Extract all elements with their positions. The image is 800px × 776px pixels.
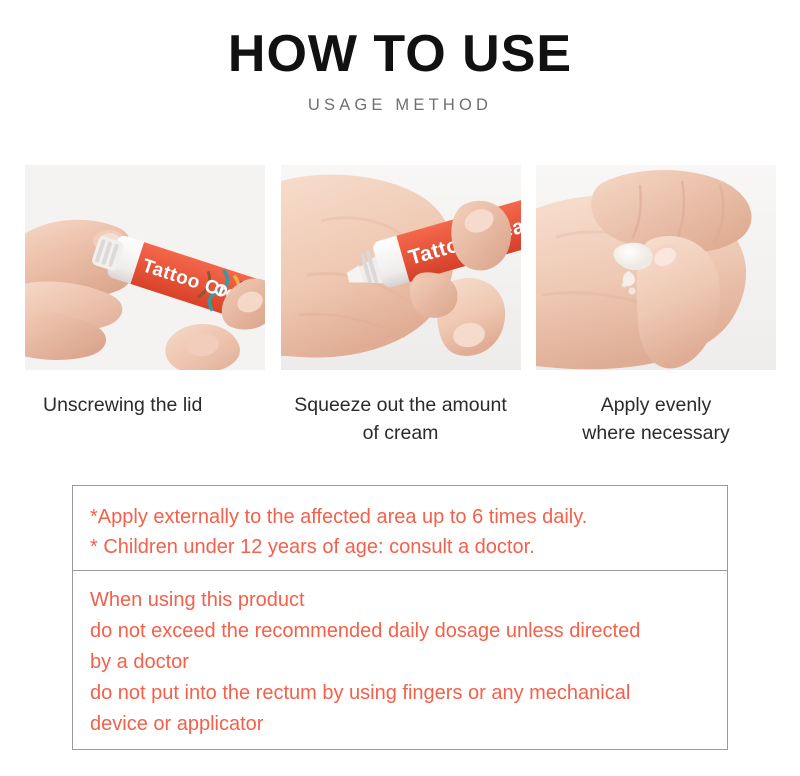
step-3-caption-line-2: where necessary <box>536 420 776 448</box>
step-3-caption-line-1: Apply evenly <box>536 392 776 420</box>
notice-dosage-section: *Apply externally to the affected area u… <box>73 486 727 571</box>
usage-step-3: Apply evenly where necessary <box>536 165 776 447</box>
step-3-caption: Apply evenly where necessary <box>536 392 776 447</box>
usage-step-1: Tattoo Cream Unscrewing the lid <box>25 165 265 447</box>
notice-top-line-2: * Children under 12 years of age: consul… <box>90 532 727 562</box>
usage-steps: Tattoo Cream Unscrewing the lid <box>25 165 776 447</box>
step-3-photo <box>536 165 776 370</box>
notice-bottom-line-3: by a doctor <box>90 647 727 678</box>
step-2-caption-line-2: of cream <box>281 420 521 448</box>
step-1-caption: Unscrewing the lid <box>25 392 265 420</box>
notice-bottom-line-4: do not put into the rectum by using fing… <box>90 678 727 709</box>
notice-top-line-1: *Apply externally to the affected area u… <box>90 502 727 532</box>
step-2-caption: Squeeze out the amount of cream <box>281 392 521 447</box>
page-title: HOW TO USE <box>0 26 800 82</box>
notice-bottom-line-2: do not exceed the recommended daily dosa… <box>90 616 727 647</box>
step-1-photo: Tattoo Cream <box>25 165 265 370</box>
notice-bottom-line-1: When using this product <box>90 585 727 616</box>
page-header: HOW TO USE USAGE METHOD <box>0 0 800 115</box>
notice-box: *Apply externally to the affected area u… <box>72 485 728 750</box>
step-2-photo: Tattoo Cream <box>281 165 521 370</box>
notice-bottom-line-5: device or applicator <box>90 709 727 740</box>
notice-warnings-section: When using this product do not exceed th… <box>73 571 727 740</box>
step-2-caption-line-1: Squeeze out the amount <box>281 392 521 420</box>
usage-step-2: Tattoo Cream Squeeze out the amount of c… <box>281 165 521 447</box>
page-subtitle: USAGE METHOD <box>0 96 800 115</box>
